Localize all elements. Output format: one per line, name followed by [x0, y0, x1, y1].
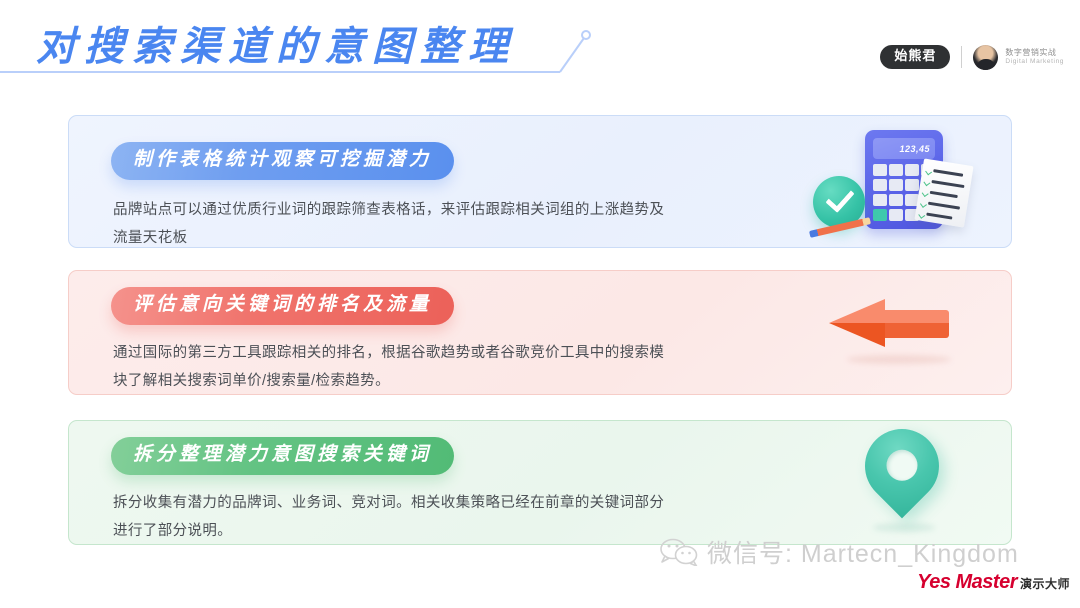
brand-name-en: Digital Marketing — [1005, 58, 1064, 66]
avatar — [973, 45, 998, 70]
wechat-id-text: 微信号: Martecn_Kingdom — [707, 534, 1019, 570]
title-node-icon — [558, 30, 598, 74]
card-1-body-line-2: 流量天花板 — [113, 224, 793, 252]
content-card-3: 拆分整理潜力意图搜索关键词 拆分收集有潜力的品牌词、业务词、竞对词。相关收集策略… — [68, 420, 1012, 545]
arrow-head-top — [829, 299, 885, 323]
card-2-body-line-2: 块了解相关搜索词单价/搜索量/检索趋势。 — [113, 367, 793, 395]
brand-name-cn: 数字营销实战 — [1005, 48, 1064, 58]
author-badge: 始熊君 — [880, 45, 950, 69]
brand-account: 数字营销实战 Digital Marketing — [973, 45, 1064, 70]
card-3-title-pill: 拆分整理潜力意图搜索关键词 — [111, 437, 454, 475]
pin-shadow — [873, 523, 935, 532]
calculator-display: 123,45 — [873, 138, 935, 159]
wechat-icon — [660, 538, 698, 566]
logo-text-cn: 演示大师 — [1020, 575, 1070, 592]
card-2-body: 通过国际的第三方工具跟踪相关的排名，根据谷歌趋势或者谷歌竞价工具中的搜索模 块了… — [113, 339, 793, 395]
brand-divider — [961, 46, 962, 68]
card-2-title-pill: 评估意向关键词的排名及流量 — [111, 287, 454, 325]
map-pin-illustration — [857, 429, 949, 537]
page-header: 对搜索渠道的意图整理 始熊君 数字营销实战 Digital Marketing — [0, 0, 1080, 92]
arrow-tail-top — [883, 310, 949, 323]
arrow-head-bottom — [829, 323, 885, 347]
content-card-2: 评估意向关键词的排名及流量 通过国际的第三方工具跟踪相关的排名，根据谷歌趋势或者… — [68, 270, 1012, 395]
wechat-watermark: 微信号: Martecn_Kingdom — [660, 534, 1019, 570]
brand-block: 始熊君 数字营销实战 Digital Marketing — [880, 40, 1064, 74]
card-3-body-line-1: 拆分收集有潜力的品牌词、业务词、竞对词。相关收集策略已经在前章的关键词部分 — [113, 489, 793, 517]
card-1-body: 品牌站点可以通过优质行业词的跟踪筛查表格话，来评估跟踪相关词组的上涨趋势及 流量… — [113, 196, 793, 252]
calculator-illustration: 123,45 — [807, 124, 987, 246]
logo-text-en: Yes Master — [917, 571, 1017, 594]
left-arrow-illustration — [829, 293, 965, 369]
card-1-body-line-1: 品牌站点可以通过优质行业词的跟踪筛查表格话，来评估跟踪相关词组的上涨趋势及 — [113, 196, 793, 224]
arrow-shadow — [847, 355, 951, 364]
yes-master-logo: Yes Master 演示大师 — [917, 571, 1070, 594]
checklist-receipt-icon — [914, 158, 973, 227]
title-underline — [0, 71, 560, 73]
arrow-tail-bottom — [883, 323, 949, 338]
content-card-1: 制作表格统计观察可挖掘潜力 品牌站点可以通过优质行业词的跟踪筛查表格话，来评估跟… — [68, 115, 1012, 248]
card-2-body-line-1: 通过国际的第三方工具跟踪相关的排名，根据谷歌趋势或者谷歌竞价工具中的搜索模 — [113, 339, 793, 367]
card-1-title-pill: 制作表格统计观察可挖掘潜力 — [111, 142, 454, 180]
page-title: 对搜索渠道的意图整理 — [36, 14, 516, 72]
map-pin-icon — [850, 414, 955, 519]
